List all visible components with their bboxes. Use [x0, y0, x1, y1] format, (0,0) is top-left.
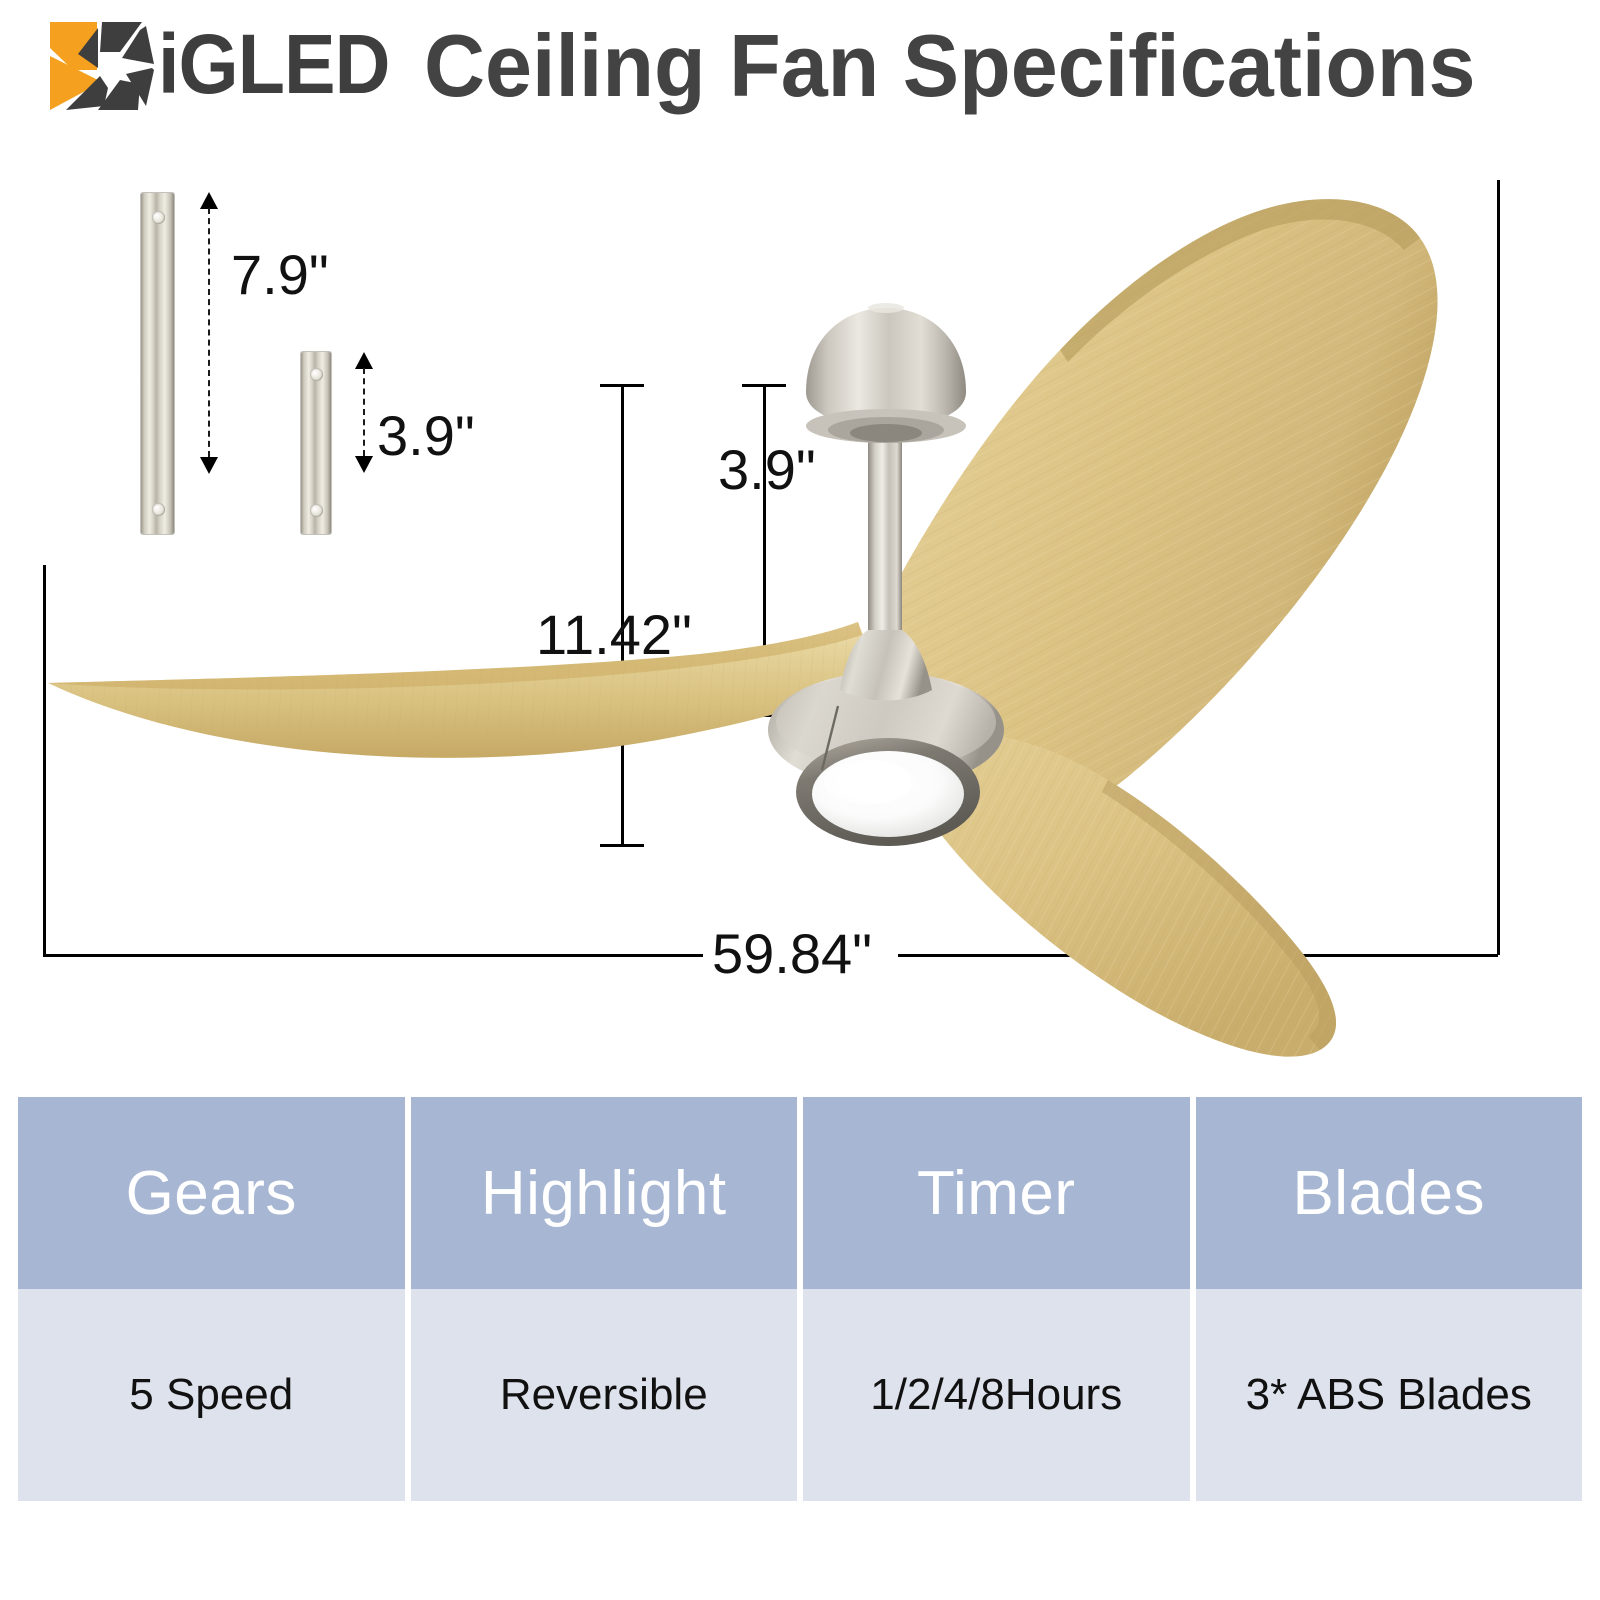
fan-blade-lower-right: [916, 730, 1336, 1057]
specification-table: Gears Highlight Timer Blades 5 Speed Rev…: [18, 1097, 1582, 1501]
table-value-gears: 5 Speed: [18, 1289, 405, 1501]
table-value-timer: 1/2/4/8Hours: [803, 1289, 1190, 1501]
fan-canopy: [806, 303, 966, 443]
product-dimension-diagram: 7.9" 3.9" 11.42" 3.9" 59.84": [0, 130, 1600, 1080]
table-header-row: Gears Highlight Timer Blades: [18, 1097, 1582, 1289]
led-light-kit: [796, 738, 980, 846]
logo-wordmark: iGLED: [158, 22, 390, 106]
table-header-timer: Timer: [803, 1097, 1190, 1289]
table-header-gears: Gears: [18, 1097, 405, 1289]
page-header: iGLED Ceiling Fan Specifications: [0, 0, 1600, 130]
table-value-row: 5 Speed Reversible 1/2/4/8Hours 3* ABS B…: [18, 1289, 1582, 1501]
table-header-blades: Blades: [1196, 1097, 1583, 1289]
fan-blade-left: [48, 622, 880, 758]
table-header-highlight: Highlight: [411, 1097, 798, 1289]
table-value-highlight: Reversible: [411, 1289, 798, 1501]
ceiling-fan-illustration: [0, 130, 1600, 1080]
digled-aperture-d-logo-icon: [42, 18, 160, 114]
table-value-blades: 3* ABS Blades: [1196, 1289, 1583, 1501]
page-title: Ceiling Fan Specifications: [424, 20, 1476, 112]
